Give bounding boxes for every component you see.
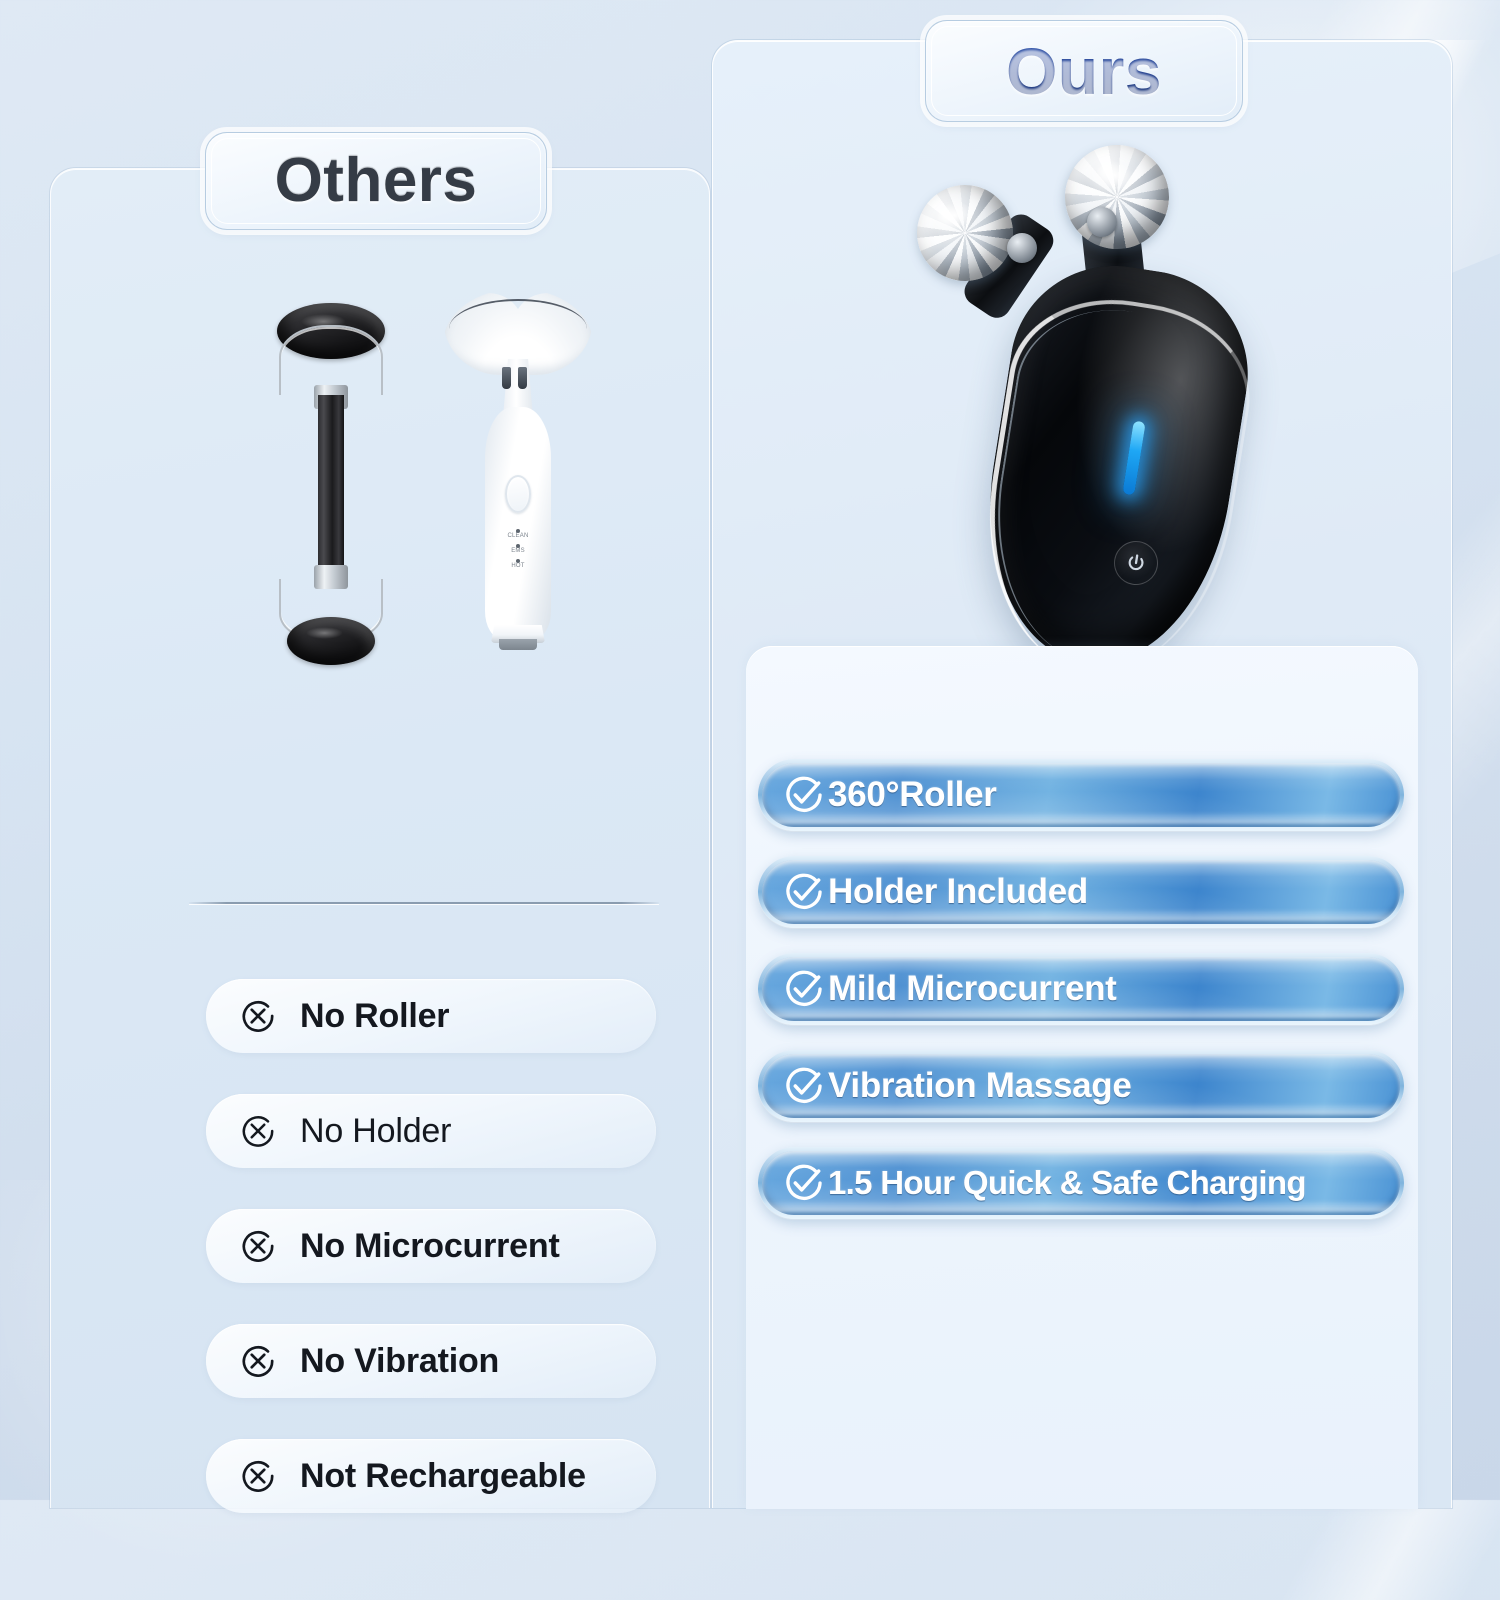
x-circle-icon (238, 996, 278, 1036)
check-circle-icon (782, 1161, 826, 1205)
led-label-3: HOT (511, 563, 524, 569)
ours-feature-label: 360°Roller (828, 775, 997, 815)
check-circle-icon (782, 1064, 826, 1108)
roller-stone-bottom (287, 617, 375, 665)
others-feature-row-2: No Microcurrent (206, 1209, 656, 1283)
x-circle-icon (238, 1456, 278, 1496)
others-feature-label: No Microcurrent (300, 1227, 560, 1266)
white-neck-massager-image: CLEAN EMS HOT (443, 289, 593, 684)
roller-handle (318, 395, 344, 575)
ours-feature-pill-2[interactable]: Mild Microcurrent (758, 953, 1404, 1025)
others-product-images: CLEAN EMS HOT (51, 289, 711, 709)
others-feature-row-4: Not Rechargeable (206, 1439, 656, 1513)
ours-feature-label: Mild Microcurrent (828, 969, 1117, 1009)
pill-surface: 360°Roller (762, 763, 1400, 827)
others-feature-label: No Holder (300, 1112, 451, 1151)
massager-indicator-labels: CLEAN EMS HOT (496, 529, 540, 569)
jade-face-roller-image (246, 299, 416, 669)
led-label-2: EMS (511, 548, 525, 554)
others-divider (189, 902, 659, 904)
massager-body (485, 407, 551, 639)
pill-surface: Mild Microcurrent (762, 957, 1400, 1021)
check-circle-icon (782, 773, 826, 817)
ours-feature-pill-3[interactable]: Vibration Massage (758, 1050, 1404, 1122)
ours-feature-pill-1[interactable]: Holder Included (758, 856, 1404, 928)
others-panel: CLEAN EMS HOT (50, 168, 710, 1508)
massager-metal-plate (499, 639, 537, 650)
others-badge: Others (205, 132, 547, 230)
others-feature-row-0: No Roller (206, 979, 656, 1053)
check-circle-icon (782, 870, 826, 914)
led-label-1: CLEAN (507, 533, 528, 539)
black-microcurrent-device (903, 141, 1323, 671)
massager-led-3: HOT (511, 559, 524, 569)
roller-joint-left (1007, 233, 1037, 263)
ours-feature-label: 1.5 Hour Quick & Safe Charging (828, 1164, 1306, 1202)
others-feature-row-1: No Holder (206, 1094, 656, 1168)
others-feature-label: Not Rechargeable (300, 1457, 586, 1496)
device-body (965, 251, 1262, 681)
x-circle-icon (238, 1226, 278, 1266)
power-icon (1122, 549, 1149, 576)
check-circle-icon (782, 967, 826, 1011)
ours-badge-label: Ours (1006, 38, 1162, 104)
others-feature-label: No Vibration (300, 1342, 499, 1381)
x-circle-icon (238, 1341, 278, 1381)
massager-led-1: CLEAN (507, 529, 528, 539)
roller-ball-highlight (1092, 156, 1137, 194)
ours-feature-list: 360°Roller Holder Included Mild Microcur… (758, 759, 1404, 1219)
x-circle-icon (238, 1111, 278, 1151)
roller-ball-highlight (934, 199, 975, 233)
ours-feature-label: Vibration Massage (828, 1066, 1132, 1106)
ours-feature-label: Holder Included (828, 872, 1088, 912)
others-feature-row-3: No Vibration (206, 1324, 656, 1398)
ours-badge: Ours (925, 20, 1243, 122)
massager-probe-left (502, 367, 511, 389)
others-feature-label: No Roller (300, 997, 449, 1036)
pill-surface: Vibration Massage (762, 1054, 1400, 1118)
massager-led-2: EMS (511, 544, 525, 554)
roller-joint-right (1087, 207, 1117, 237)
ours-product-image (713, 141, 1453, 681)
ours-feature-pill-0[interactable]: 360°Roller (758, 759, 1404, 831)
others-feature-list: No Roller No Holder No Microcurrent (206, 979, 656, 1513)
pill-surface: Holder Included (762, 860, 1400, 924)
others-badge-label: Others (275, 150, 478, 212)
massager-probe-right (518, 367, 527, 389)
pill-surface: 1.5 Hour Quick & Safe Charging (762, 1151, 1400, 1215)
massager-power-button (505, 475, 531, 513)
ours-feature-pill-4[interactable]: 1.5 Hour Quick & Safe Charging (758, 1147, 1404, 1219)
roller-ball-right (1054, 134, 1180, 260)
